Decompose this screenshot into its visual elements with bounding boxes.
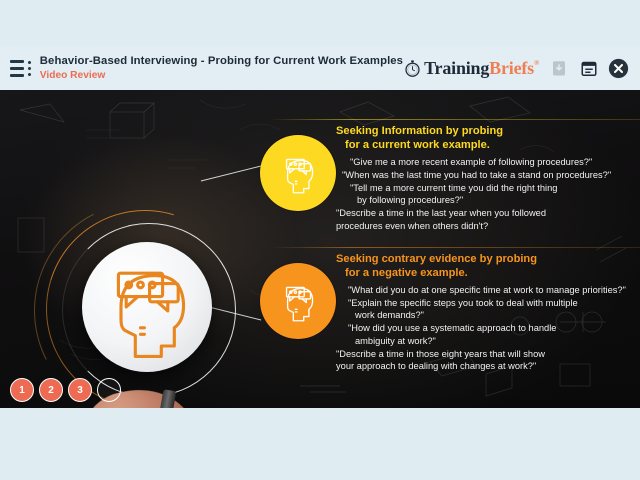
page-footer — [0, 408, 640, 480]
hamburger-line — [10, 60, 24, 63]
list-item: "Explain the specific steps you took to … — [336, 297, 636, 322]
card-2-heading-line1: Seeking contrary evidence by probing — [336, 253, 537, 265]
pagination-dot-3[interactable]: 3 — [68, 378, 92, 402]
list-item-text: "Explain the specific steps you took to … — [348, 298, 578, 308]
head-with-speech-bubbles-icon — [272, 147, 324, 199]
page-title: Behavior-Based Interviewing - Probing fo… — [40, 55, 403, 68]
list-item-text: "Give me a more recent example of follow… — [350, 157, 592, 167]
list-item-cont: ambiguity at work?" — [348, 335, 636, 347]
center-white-disc — [82, 242, 212, 372]
registered-mark: ® — [534, 59, 539, 67]
close-icon[interactable] — [608, 58, 629, 79]
pagination-dot-1[interactable]: 1 — [10, 378, 34, 402]
trainingbriefs-logo: Training Briefs ® — [403, 58, 539, 79]
list-item-text: "Describe a time in the last year when y… — [336, 208, 546, 218]
head-with-speech-bubbles-icon — [272, 275, 324, 327]
list-item-text: "What did you do at one specific time at… — [348, 285, 626, 295]
hamburger-menu-icon[interactable] — [10, 60, 24, 77]
logo-word-training: Training — [424, 58, 489, 79]
pagination-dot-4[interactable] — [97, 378, 121, 402]
card-2-heading-line2: for a negative example. — [336, 266, 636, 280]
list-item: "When was the last time you had to take … — [336, 169, 636, 181]
pagination: 1 2 3 — [10, 378, 121, 402]
kebab-dot — [28, 67, 31, 70]
list-item: "Give me a more recent example of follow… — [336, 156, 636, 168]
list-item-text: "How did you use a systematic approach t… — [348, 323, 556, 333]
hamburger-line — [10, 67, 24, 70]
logo-word-briefs: Briefs — [489, 58, 534, 79]
list-item-cont: by following procedures?" — [350, 194, 636, 206]
badge-circle-2 — [260, 263, 336, 339]
pagination-dot-2[interactable]: 2 — [39, 378, 63, 402]
video-player-page: Behavior-Based Interviewing - Probing fo… — [0, 0, 640, 480]
card-1-list: "Give me a more recent example of follow… — [336, 156, 636, 232]
notes-icon[interactable] — [578, 58, 599, 79]
list-item: "What did you do at one specific time at… — [336, 284, 636, 296]
list-item: "Tell me a more current time you did the… — [336, 182, 636, 207]
list-item-cont: work demands?" — [348, 309, 636, 321]
list-item-text: "Describe a time in those eight years th… — [336, 349, 545, 359]
info-card-1: Seeking Information by probing for a cur… — [336, 124, 636, 233]
card-divider-top — [270, 119, 640, 120]
list-item-text: "When was the last time you had to take … — [342, 170, 611, 180]
list-item-cont: your approach to dealing with changes at… — [336, 360, 636, 372]
badge-circle-1 — [260, 135, 336, 211]
card-2-list: "What did you do at one specific time at… — [336, 284, 636, 373]
download-icon[interactable] — [548, 58, 569, 79]
app-header: Behavior-Based Interviewing - Probing fo… — [0, 46, 640, 90]
kebab-dot — [28, 73, 31, 76]
logo-wordmark: Training Briefs ® — [424, 58, 539, 79]
list-item: "Describe a time in the last year when y… — [336, 207, 636, 232]
list-item: "Describe a time in those eight years th… — [336, 348, 636, 373]
card-divider-bottom — [270, 247, 640, 248]
card-1-heading: Seeking Information by probing for a cur… — [336, 124, 636, 153]
video-stage[interactable]: Seeking Information by probing for a cur… — [0, 90, 640, 408]
head-with-speech-bubbles-icon — [82, 242, 212, 372]
info-card-2: Seeking contrary evidence by probing for… — [336, 252, 636, 373]
card-2-heading: Seeking contrary evidence by probing for… — [336, 252, 636, 281]
list-item: "How did you use a systematic approach t… — [336, 322, 636, 347]
card-1-heading-line1: Seeking Information by probing — [336, 125, 503, 137]
list-item-cont: procedures even when others didn't? — [336, 220, 636, 232]
more-options-icon[interactable] — [26, 61, 34, 76]
header-titles: Behavior-Based Interviewing - Probing fo… — [40, 55, 403, 81]
kebab-dot — [28, 61, 31, 64]
hamburger-line — [10, 74, 24, 77]
list-item-text: "Tell me a more current time you did the… — [350, 183, 557, 193]
header-actions: Training Briefs ® — [403, 58, 629, 79]
page-subtitle: Video Review — [40, 70, 403, 81]
stopwatch-icon — [403, 59, 422, 78]
card-1-heading-line2: for a current work example. — [336, 138, 636, 152]
